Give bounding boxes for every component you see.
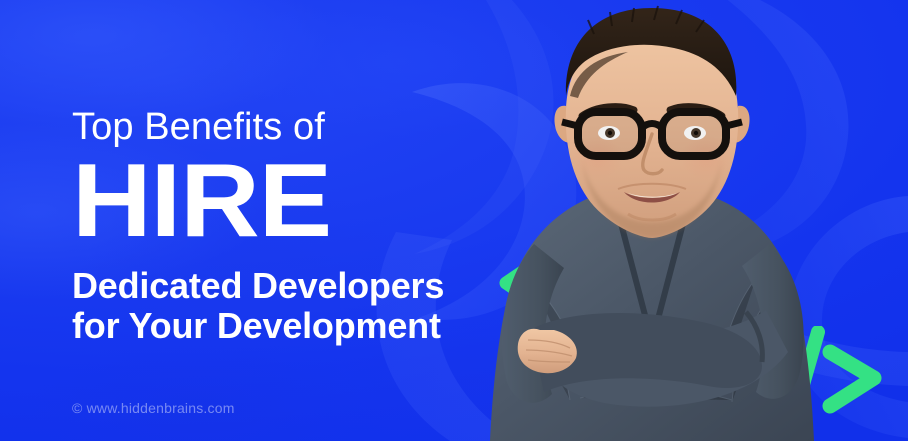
subheadline: Dedicated Developers for Your Developmen…	[72, 266, 502, 347]
site-url: © www.hiddenbrains.com	[72, 400, 235, 416]
glasses-temple-right	[726, 122, 742, 126]
subheadline-line-2: for Your Development	[72, 306, 502, 346]
lens-right	[662, 112, 726, 156]
lens-left	[578, 112, 642, 156]
headline-block: Top Benefits of HIRE Dedicated Developer…	[72, 108, 502, 346]
subheadline-line-1: Dedicated Developers	[72, 266, 502, 306]
promo-banner: Top Benefits of HIRE Dedicated Developer…	[0, 0, 908, 441]
person-photo	[470, 0, 908, 441]
glasses-temple-left	[562, 122, 578, 126]
hero-word: HIRE	[72, 152, 528, 252]
person-figure	[490, 6, 814, 441]
